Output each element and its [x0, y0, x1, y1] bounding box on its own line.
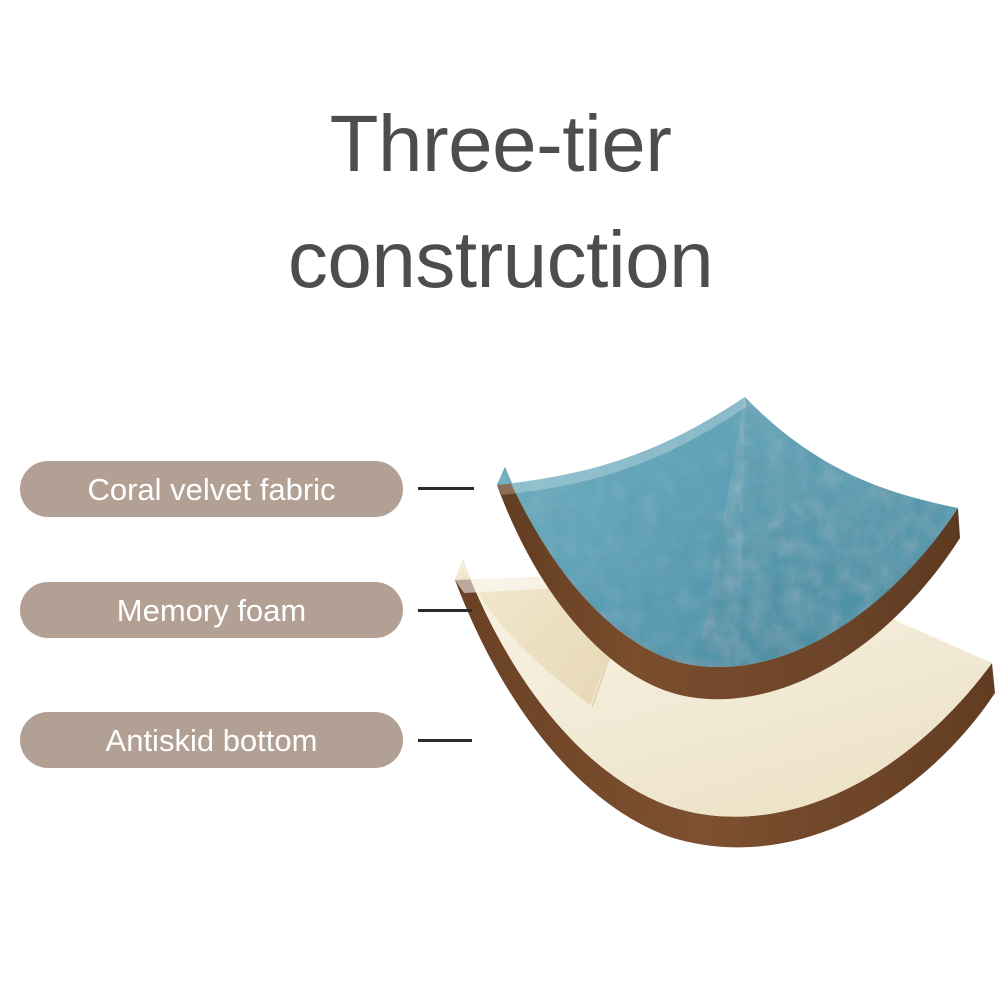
product-infographic: Three-tier construction: [0, 0, 1001, 1001]
callout-label-coral-velvet-fabric: Coral velvet fabric: [87, 474, 335, 505]
page-title: Three-tier construction: [0, 86, 1001, 318]
callout-label-memory-foam: Memory foam: [117, 595, 306, 626]
leader-line-antiskid-bottom: [418, 739, 472, 742]
callout-memory-foam[interactable]: Memory foam: [20, 582, 403, 638]
callout-label-antiskid-bottom: Antiskid bottom: [106, 725, 318, 756]
callout-antiskid-bottom[interactable]: Antiskid bottom: [20, 712, 403, 768]
leader-line-coral-velvet-fabric: [418, 487, 474, 490]
leader-line-memory-foam: [418, 609, 472, 612]
callout-coral-velvet-fabric[interactable]: Coral velvet fabric: [20, 461, 403, 517]
layer-stack-illustration: [440, 375, 1001, 885]
